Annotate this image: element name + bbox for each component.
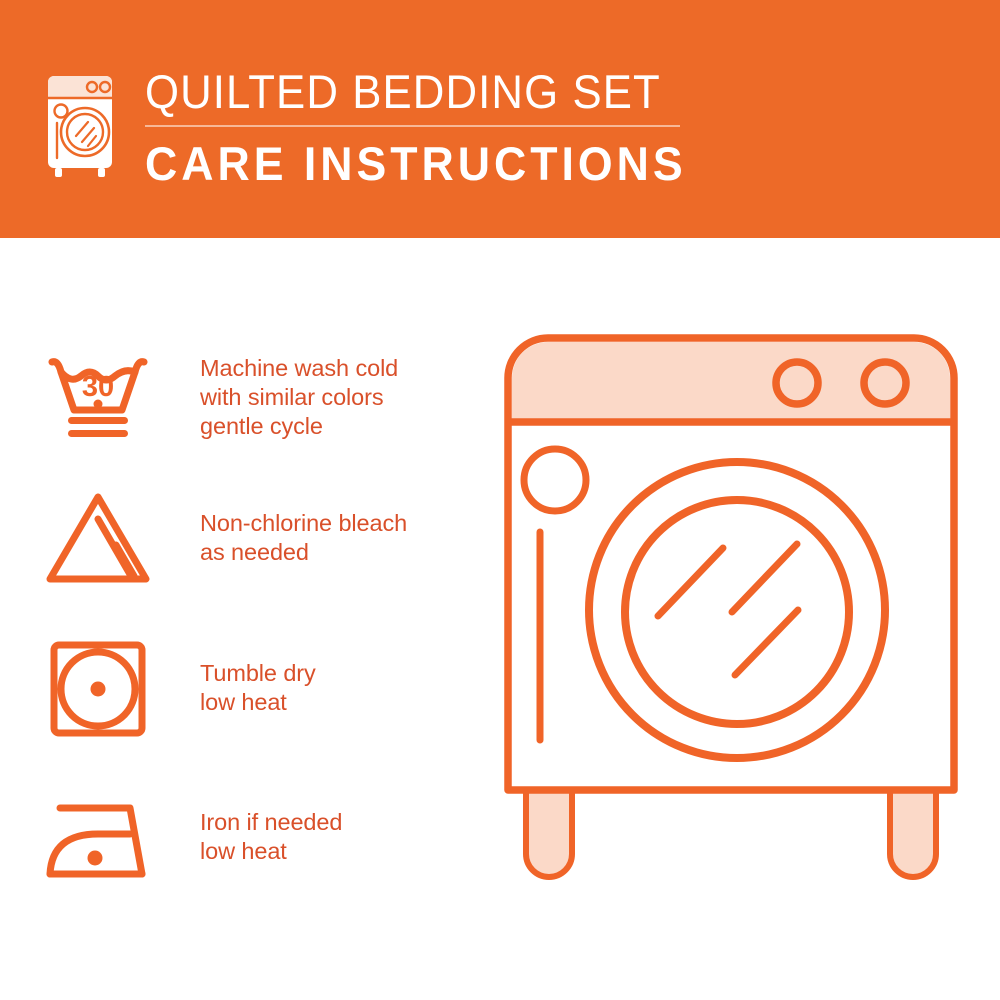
care-text-line: low heat [200, 688, 316, 717]
bleach-triangle-icon [38, 483, 158, 595]
care-row: 30 Machine wash cold with similar colors… [0, 338, 490, 450]
header-banner: QUILTED BEDDING SET CARE INSTRUCTIONS [0, 0, 1000, 238]
title-divider [145, 125, 680, 127]
wash-tub-icon: 30 [38, 338, 158, 450]
machine-leg-left [526, 780, 572, 877]
care-text-line: Tumble dry [200, 659, 316, 688]
iron-icon [38, 786, 158, 898]
tumble-dry-icon [38, 633, 158, 745]
wash-temperature-label: 30 [82, 371, 114, 403]
care-row: Iron if needed low heat [0, 786, 490, 898]
care-text-line: low heat [200, 837, 342, 866]
page-title: QUILTED BEDDING SET [145, 66, 666, 118]
care-text-line: as needed [200, 538, 407, 567]
washing-machine-icon [44, 72, 116, 178]
care-row: Tumble dry low heat [0, 633, 490, 745]
care-text: Iron if needed low heat [200, 808, 342, 866]
care-text-line: gentle cycle [200, 412, 398, 441]
machine-control-panel [512, 342, 950, 422]
machine-leg-right [890, 780, 936, 877]
care-text-line: Iron if needed [200, 808, 342, 837]
care-text: Machine wash cold with similar colors ge… [200, 354, 398, 441]
page-subtitle: CARE INSTRUCTIONS [145, 137, 677, 191]
care-instructions-list: 30 Machine wash cold with similar colors… [0, 238, 490, 1000]
care-text-line: Non-chlorine bleach [200, 509, 407, 538]
care-text: Non-chlorine bleach as needed [200, 509, 407, 567]
washing-machine-illustration [490, 320, 1000, 940]
header-text-block: QUILTED BEDDING SET CARE INSTRUCTIONS [145, 66, 705, 191]
care-text-line: with similar colors [200, 383, 398, 412]
care-text: Tumble dry low heat [200, 659, 316, 717]
care-text-line: Machine wash cold [200, 354, 398, 383]
care-row: Non-chlorine bleach as needed [0, 483, 490, 595]
